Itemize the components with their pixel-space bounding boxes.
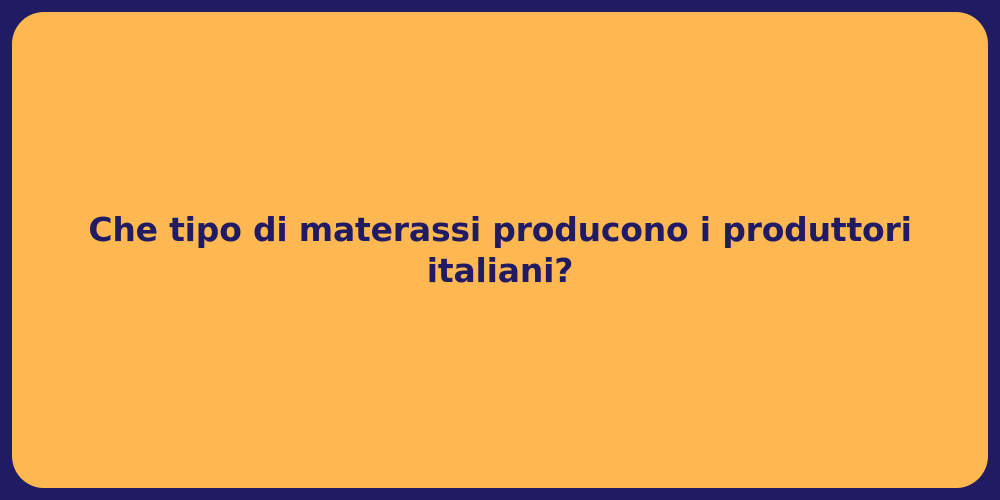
page-title: Che tipo di materassi producono i produt…: [72, 209, 928, 292]
card-outer-frame: Che tipo di materassi producono i produt…: [0, 0, 1000, 500]
question-card-panel: Che tipo di materassi producono i produt…: [12, 12, 988, 488]
